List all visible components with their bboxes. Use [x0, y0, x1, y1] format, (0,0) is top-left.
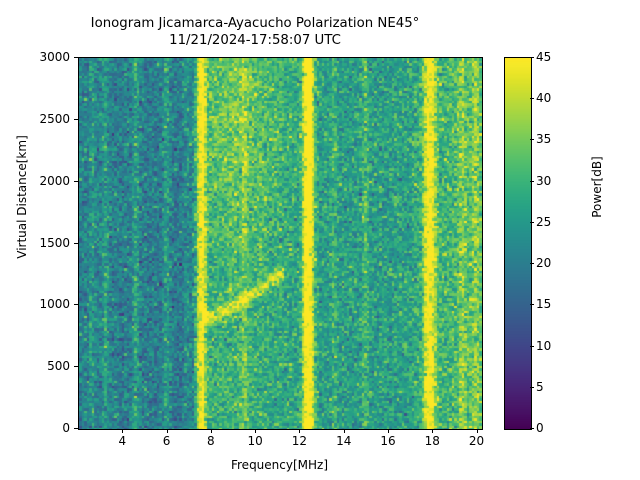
x-tick-label: 4 [102, 435, 142, 447]
colorbar-tick-label: 30 [536, 175, 576, 187]
colorbar-tick-mark [530, 222, 534, 223]
y-tick-mark [74, 243, 78, 244]
colorbar-tick-mark [530, 304, 534, 305]
colorbar-tick-label: 5 [536, 381, 576, 393]
y-tick-mark [74, 57, 78, 58]
x-tick-mark [299, 429, 300, 433]
colorbar-tick-label: 40 [536, 92, 576, 104]
colorbar-tick-label: 15 [536, 298, 576, 310]
x-tick-mark [255, 429, 256, 433]
colorbar [504, 57, 532, 430]
colorbar-tick-label: 35 [536, 133, 576, 145]
ionogram-plot-area [78, 57, 483, 430]
y-tick-label: 0 [10, 422, 70, 434]
x-tick-mark [477, 429, 478, 433]
x-tick-label: 12 [279, 435, 319, 447]
ionogram-heatmap [79, 58, 482, 429]
x-tick-mark [211, 429, 212, 433]
y-tick-mark [74, 119, 78, 120]
colorbar-tick-mark [530, 263, 534, 264]
colorbar-tick-label: 45 [536, 51, 576, 63]
y-tick-mark [74, 366, 78, 367]
y-axis-label: Virtual Distance[km] [15, 47, 29, 347]
x-tick-mark [167, 429, 168, 433]
colorbar-tick-label: 25 [536, 216, 576, 228]
colorbar-tick-mark [530, 181, 534, 182]
x-tick-label: 8 [191, 435, 231, 447]
x-tick-label: 16 [368, 435, 408, 447]
colorbar-tick-mark [530, 346, 534, 347]
y-tick-mark [74, 304, 78, 305]
x-tick-mark [344, 429, 345, 433]
x-axis-label: Frequency[MHz] [78, 458, 481, 472]
figure-title: Ionogram Jicamarca-Ayacucho Polarization… [0, 16, 510, 49]
x-tick-label: 14 [324, 435, 364, 447]
colorbar-label: Power[dB] [590, 87, 604, 287]
x-tick-label: 20 [457, 435, 497, 447]
x-tick-mark [432, 429, 433, 433]
colorbar-tick-label: 0 [536, 422, 576, 434]
colorbar-tick-label: 20 [536, 257, 576, 269]
x-tick-mark [122, 429, 123, 433]
y-tick-mark [74, 181, 78, 182]
colorbar-tick-mark [530, 428, 534, 429]
x-tick-mark [388, 429, 389, 433]
colorbar-tick-mark [530, 139, 534, 140]
colorbar-tick-label: 10 [536, 340, 576, 352]
colorbar-tick-mark [530, 387, 534, 388]
x-tick-label: 6 [147, 435, 187, 447]
ionogram-figure: Ionogram Jicamarca-Ayacucho Polarization… [0, 0, 640, 480]
colorbar-tick-mark [530, 98, 534, 99]
colorbar-gradient [505, 58, 531, 429]
x-tick-label: 18 [412, 435, 452, 447]
y-tick-label: 500 [10, 360, 70, 372]
x-tick-label: 10 [235, 435, 275, 447]
y-tick-mark [74, 428, 78, 429]
colorbar-tick-mark [530, 57, 534, 58]
